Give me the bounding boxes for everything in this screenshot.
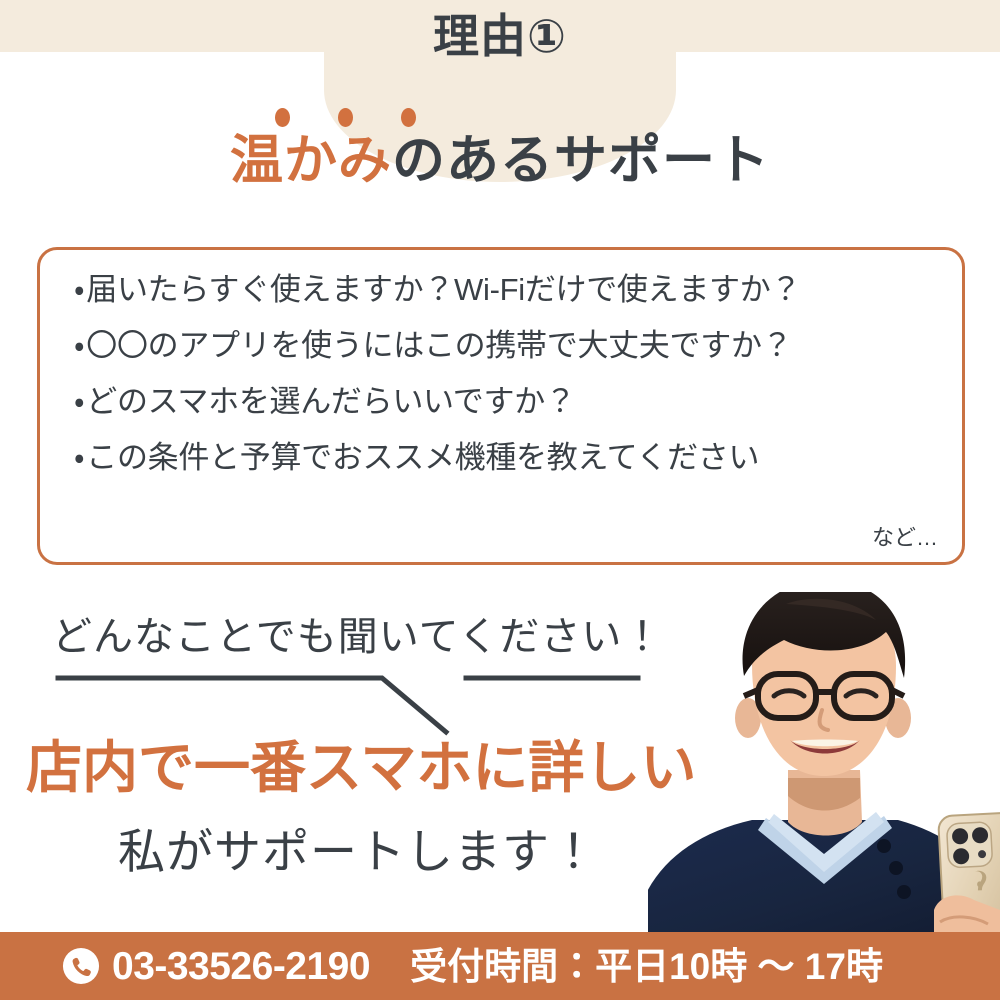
bullet-marker: ・ <box>74 328 84 363</box>
list-item-text: この条件と予算でおススメ機種を教えてください <box>86 440 759 475</box>
phone-number[interactable]: 03-33526-2190 <box>112 947 370 986</box>
footer-contact-bar: 03-33526-2190 受付時間：平日10時 ～ 17時 <box>0 932 1000 1000</box>
business-hours: 受付時間：平日10時 ～ 17時 <box>410 948 883 985</box>
emphasis-dot-3 <box>401 108 416 127</box>
list-item: ・この条件と予算でおススメ機種を教えてください <box>74 442 962 473</box>
emphasis-dot-1 <box>275 108 290 127</box>
etc-label: など… <box>872 520 938 552</box>
bullet-marker: ・ <box>74 384 84 419</box>
bullet-marker: ・ <box>74 440 84 475</box>
staff-photo-illustration <box>648 592 1000 940</box>
bullet-marker: ・ <box>74 272 84 307</box>
phone-icon <box>62 947 100 985</box>
headline-sub: 私がサポートします！ <box>118 828 598 875</box>
question-list: ・届いたらすぐ使えますか？Wi-Fiだけで使えますか？ ・〇〇のアプリを使うには… <box>40 250 962 473</box>
speech-bubble-underline <box>40 666 660 740</box>
list-item: ・どのスマホを選んだらいいですか？ <box>74 386 962 417</box>
footer-content: 03-33526-2190 受付時間：平日10時 ～ 17時 <box>62 947 883 986</box>
list-item-text: 届いたらすぐ使えますか？Wi-Fiだけで使えますか？ <box>86 272 801 307</box>
headline-orange: 店内で一番スマホに詳しい <box>26 740 696 796</box>
page-title-rest: のあるサポート <box>392 131 770 190</box>
page-title: 温かみのあるサポート <box>0 132 1000 190</box>
list-item-text: 〇〇のアプリを使うにはこの携帯で大丈夫ですか？ <box>86 328 792 363</box>
main-title-block: 温かみのあるサポート <box>0 108 1000 190</box>
list-item: ・〇〇のアプリを使うにはこの携帯で大丈夫ですか？ <box>74 330 962 361</box>
ask-anything-text: どんなことでも聞いてください！ <box>52 604 663 662</box>
question-box: ・届いたらすぐ使えますか？Wi-Fiだけで使えますか？ ・〇〇のアプリを使うには… <box>37 247 965 565</box>
list-item: ・届いたらすぐ使えますか？Wi-Fiだけで使えますか？ <box>74 274 962 305</box>
page-title-highlight: 温かみ <box>230 131 392 190</box>
emphasis-dots <box>0 108 1000 128</box>
list-item-text: どのスマホを選んだらいいですか？ <box>86 384 575 419</box>
reason-badge-label: 理由① <box>0 12 1000 60</box>
staff-photo <box>648 592 1000 940</box>
emphasis-dot-2 <box>338 108 353 127</box>
